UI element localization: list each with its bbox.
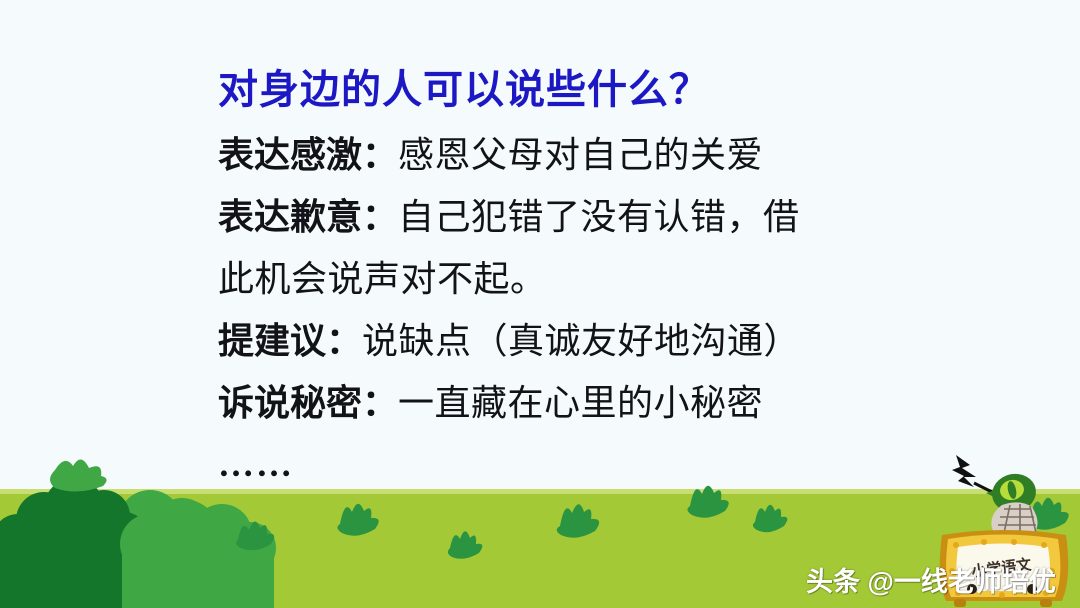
bush-mid: [90, 490, 233, 608]
body-text-block: 表达感激：感恩父母对自己的关爱 表达歉意：自己犯错了没有认错，借 此机会说声对不…: [218, 124, 1018, 495]
body-line-5-label: 诉说秘密：: [218, 382, 398, 423]
bush-mid-2: [120, 500, 276, 608]
body-line-1-text: 感恩父母对自己的关爱: [398, 135, 763, 175]
body-line-2-label: 表达歉意：: [218, 196, 398, 237]
body-line-2-text: 自己犯错了没有认错，借: [398, 197, 800, 237]
body-line-1-label: 表达感激：: [218, 134, 398, 175]
presentation-slide: 对身边的人可以说些什么？ 表达感激：感恩父母对自己的关爱 表达歉意：自己犯错了没…: [0, 0, 1080, 608]
body-line-4-text: 说缺点（真诚友好地沟通）: [362, 321, 800, 361]
body-line-3: 此机会说声对不起。: [218, 248, 1018, 310]
body-line-5: 诉说秘密：一直藏在心里的小秘密: [218, 372, 1018, 434]
body-line-2: 表达歉意：自己犯错了没有认错，借: [218, 186, 1018, 248]
watermark-text: 头条 @一线老师培优: [806, 560, 1056, 599]
body-line-4-label: 提建议：: [218, 320, 362, 361]
bush-dark: [0, 478, 148, 608]
body-line-3-text: 此机会说声对不起。: [218, 259, 547, 299]
body-line-4: 提建议：说缺点（真诚友好地沟通）: [218, 310, 1018, 372]
lightning-bolt-icon: [952, 455, 998, 495]
grass-tuft-floating: [50, 459, 107, 491]
page-title: 对身边的人可以说些什么？: [218, 62, 1018, 118]
body-line-5-text: 一直藏在心里的小秘密: [398, 383, 763, 423]
body-line-1: 表达感激：感恩父母对自己的关爱: [218, 124, 1018, 186]
body-line-ellipsis: ……: [218, 434, 1018, 495]
slide-content: 对身边的人可以说些什么？ 表达感激：感恩父母对自己的关爱 表达歉意：自己犯错了没…: [218, 62, 1018, 495]
